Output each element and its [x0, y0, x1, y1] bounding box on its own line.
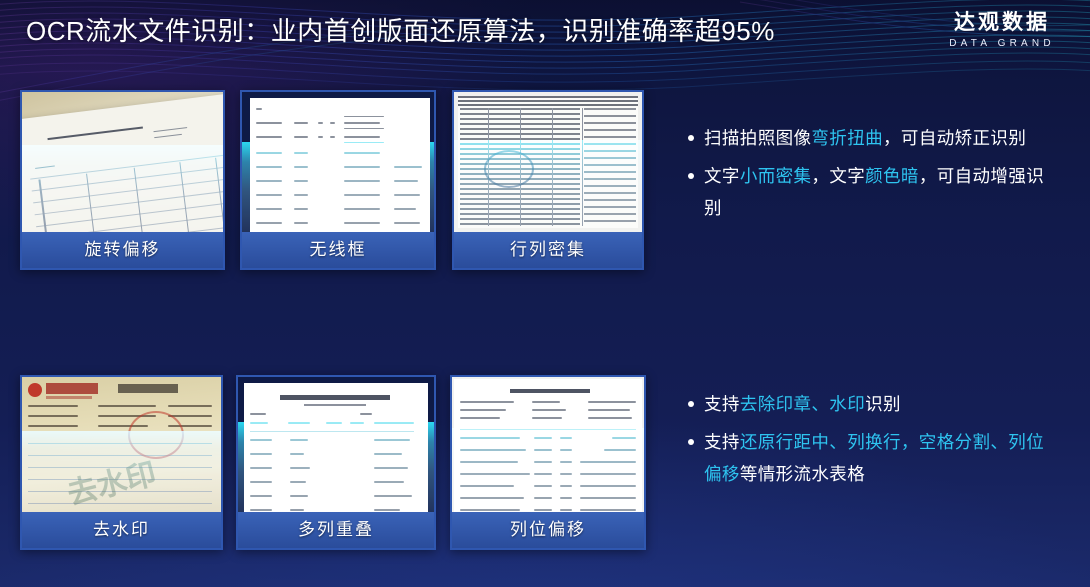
- bullet-text: 文字: [704, 166, 740, 186]
- doc-multi-column-table: [238, 377, 434, 512]
- sample-card[interactable]: 列位偏移: [450, 375, 646, 550]
- bullet-text: ，文字: [811, 166, 865, 186]
- bullet-text: 支持: [704, 394, 740, 414]
- sample-thumbnail: 去水印: [22, 377, 221, 512]
- bullet-highlight-text: 小而密集: [740, 166, 812, 186]
- sample-card-caption: 多列重叠: [238, 512, 434, 548]
- sample-card-caption: 列位偏移: [452, 512, 644, 548]
- sample-card-caption: 旋转偏移: [22, 232, 223, 268]
- doc-borderless-table: [242, 92, 434, 232]
- bullet-text: 等情形流水表格: [740, 464, 865, 484]
- sample-card-caption: 去水印: [22, 512, 221, 548]
- bullet-highlight-text: 颜色暗: [865, 166, 919, 186]
- feature-bullet: 支持去除印章、水印识别: [686, 388, 1058, 420]
- bullet-text: 扫描拍照图像: [704, 128, 811, 148]
- sample-card[interactable]: 无线框: [240, 90, 436, 270]
- sample-thumbnail: [452, 377, 644, 512]
- doc-photo-skewed-form: [22, 92, 223, 232]
- brand-logo-cn: 达观数据: [932, 10, 1072, 36]
- sample-card[interactable]: 旋转偏移: [20, 90, 225, 270]
- sample-thumbnail: [238, 377, 434, 512]
- feature-bullet: 支持还原行距中、列换行，空格分割、列位偏移等情形流水表格: [686, 426, 1058, 490]
- bullet-highlight-text: 弯折扭曲: [811, 128, 883, 148]
- feature-list-bottom: 支持去除印章、水印识别支持还原行距中、列换行，空格分割、列位偏移等情形流水表格: [686, 388, 1058, 496]
- slide-header: OCR流水文件识别：业内首创版面还原算法，识别准确率超95% 达观数据 DATA…: [0, 0, 1090, 62]
- doc-dense-table-stamp: [454, 92, 642, 232]
- doc-shifted-column-table: [452, 377, 644, 512]
- sample-card[interactable]: 多列重叠: [236, 375, 436, 550]
- bullet-text: 识别: [865, 394, 901, 414]
- bullet-highlight-text: 去除印章、水印: [740, 394, 865, 414]
- doc-bank-slip-watermark: 去水印: [22, 377, 221, 512]
- feature-list-top: 扫描拍照图像弯折扭曲，可自动矫正识别文字小而密集，文字颜色暗，可自动增强识别: [686, 122, 1058, 230]
- sample-card[interactable]: 行列密集: [452, 90, 644, 270]
- feature-bullet: 文字小而密集，文字颜色暗，可自动增强识别: [686, 160, 1058, 224]
- sample-card-caption: 行列密集: [454, 232, 642, 268]
- brand-logo: 达观数据 DATA GRAND: [932, 10, 1072, 52]
- sample-thumbnail: [22, 92, 223, 232]
- sample-card[interactable]: 去水印 去水印: [20, 375, 223, 550]
- brand-logo-en: DATA GRAND: [932, 36, 1072, 52]
- page-title: OCR流水文件识别：业内首创版面还原算法，识别准确率超95%: [26, 14, 775, 48]
- sample-thumbnail: [454, 92, 642, 232]
- sample-thumbnail: [242, 92, 434, 232]
- sample-card-caption: 无线框: [242, 232, 434, 268]
- bullet-text: ，可自动矫正识别: [883, 128, 1026, 148]
- bullet-text: 支持: [704, 432, 740, 452]
- feature-bullet: 扫描拍照图像弯折扭曲，可自动矫正识别: [686, 122, 1058, 154]
